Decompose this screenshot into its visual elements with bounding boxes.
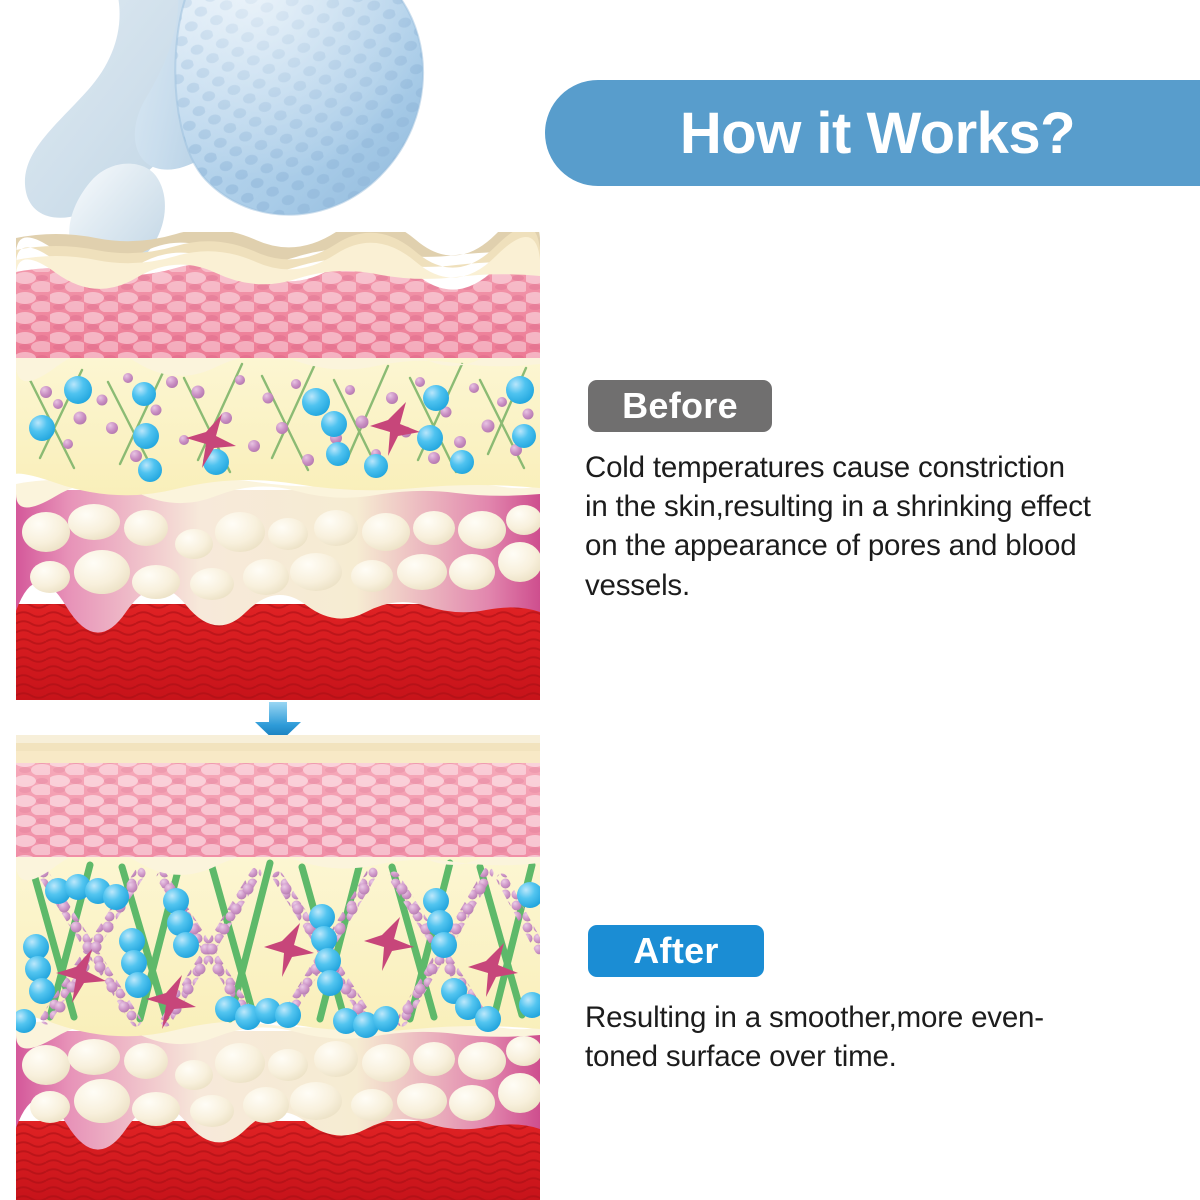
page-title: How it Works? [670,100,1075,167]
layer-stratum-corneum [16,735,540,763]
skin-cross-section-before-svg [16,232,540,700]
skin-diagram-after [16,735,540,1200]
badge-label-before: Before [622,385,738,427]
layer-epidermis [16,761,540,857]
skin-cross-section-after-svg [16,735,540,1200]
how-it-works-banner: How it Works? [545,80,1200,186]
badge-label-after: After [633,930,719,972]
status-badge-after: After [588,925,764,977]
roller-head [160,0,460,240]
status-badge-before: Before [588,380,772,432]
layer-dermis [16,334,540,495]
skin-diagram-before [16,232,540,700]
after-description: Resulting in a smoother,more even- toned… [585,998,1185,1076]
before-description: Cold temperatures cause constriction in … [585,448,1185,605]
layer-stratum-corneum [16,232,540,289]
layer-dermis [16,833,540,1038]
